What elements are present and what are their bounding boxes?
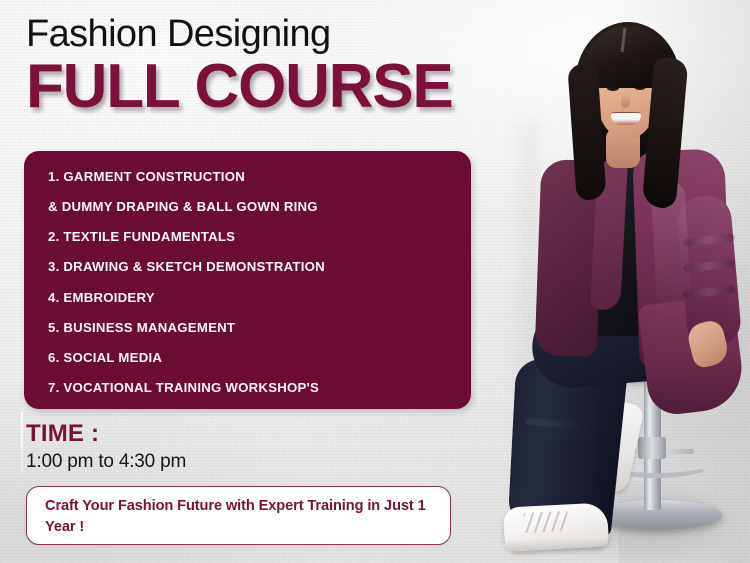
time-label: TIME : — [26, 421, 186, 447]
list-item: 3. DRAWING & SKETCH DEMONSTRATION — [48, 252, 451, 282]
headline-block: Fashion Designing FULL COURSE — [26, 14, 453, 118]
cta-banner: Craft Your Fashion Future with Expert Tr… — [26, 486, 451, 545]
list-item: 6. SOCIAL MEDIA — [48, 342, 451, 372]
sneaker-laces — [524, 511, 569, 533]
list-item: 5. BUSINESS MANAGEMENT — [48, 312, 451, 342]
page-title-main: FULL COURSE — [26, 57, 453, 118]
page-title-sub: Fashion Designing — [26, 14, 453, 55]
list-item: 4. EMBROIDERY — [48, 282, 451, 312]
list-item: & DUMMY DRAPING & BALL GOWN RING — [48, 191, 451, 221]
list-item: 7. VOCATIONAL TRAINING WORKSHOP'S — [48, 373, 451, 403]
stool-collar — [638, 437, 666, 459]
smiling-mouth — [611, 112, 641, 125]
list-item: 1. GARMENT CONSTRUCTION — [48, 161, 451, 191]
model-photo — [468, 0, 750, 563]
list-item: 2. TEXTILE FUNDAMENTALS — [48, 222, 451, 252]
cta-text: Craft Your Fashion Future with Expert Tr… — [45, 496, 434, 538]
time-block: TIME : 1:00 pm to 4:30 pm — [26, 421, 186, 473]
poster-canvas: Fashion Designing FULL COURSE 1. GARMENT… — [0, 0, 750, 563]
nose — [621, 94, 630, 108]
course-list-card: 1. GARMENT CONSTRUCTION & DUMMY DRAPING … — [24, 151, 471, 409]
time-value: 1:00 pm to 4:30 pm — [26, 452, 186, 473]
left-accent-rule — [21, 412, 23, 474]
